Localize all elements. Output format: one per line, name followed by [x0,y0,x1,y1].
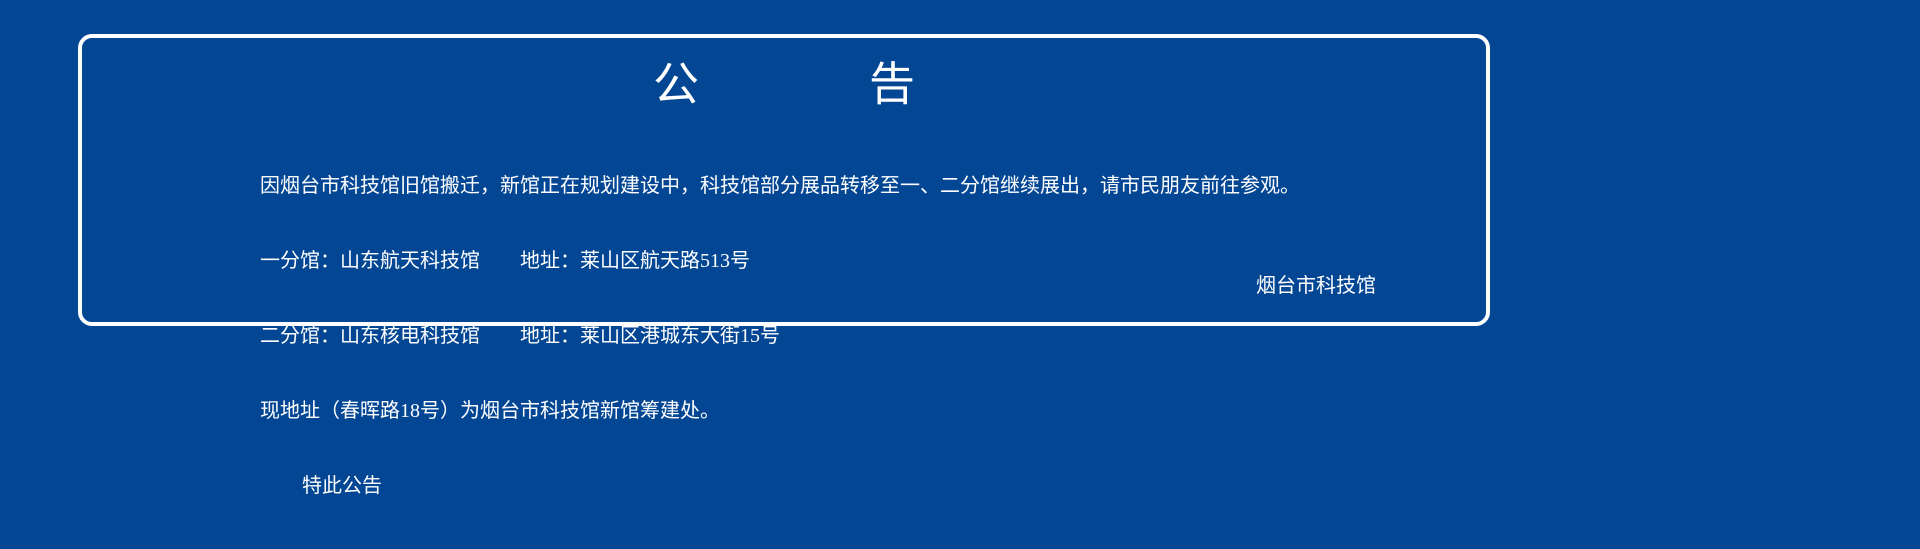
body-line-branch-two: 二分馆：山东核电科技馆 地址：莱山区港城东大街15号 [260,324,1456,349]
body-line-branch-one: 一分馆：山东航天科技馆 地址：莱山区航天路513号 [260,249,1456,274]
announcement-banner: 公 告 因烟台市科技馆旧馆搬迁，新馆正在规划建设中，科技馆部分展品转移至一、二分… [0,0,1920,446]
body-line-current-address: 现地址（春晖路18号）为烟台市科技馆新馆筹建处。 [260,399,1456,424]
notice-border-frame: 公 告 因烟台市科技馆旧馆搬迁，新馆正在规划建设中，科技馆部分展品转移至一、二分… [78,34,1490,326]
signature-issuer: 烟台市科技馆 [1256,274,1376,299]
closing-statement: 特此公告 [260,474,1456,499]
notice-body: 因烟台市科技馆旧馆搬迁，新馆正在规划建设中，科技馆部分展品转移至一、二分馆继续展… [260,124,1456,549]
body-line-1: 因烟台市科技馆旧馆搬迁，新馆正在规划建设中，科技馆部分展品转移至一、二分馆继续展… [260,174,1456,199]
page-title: 公 告 [82,58,1486,112]
